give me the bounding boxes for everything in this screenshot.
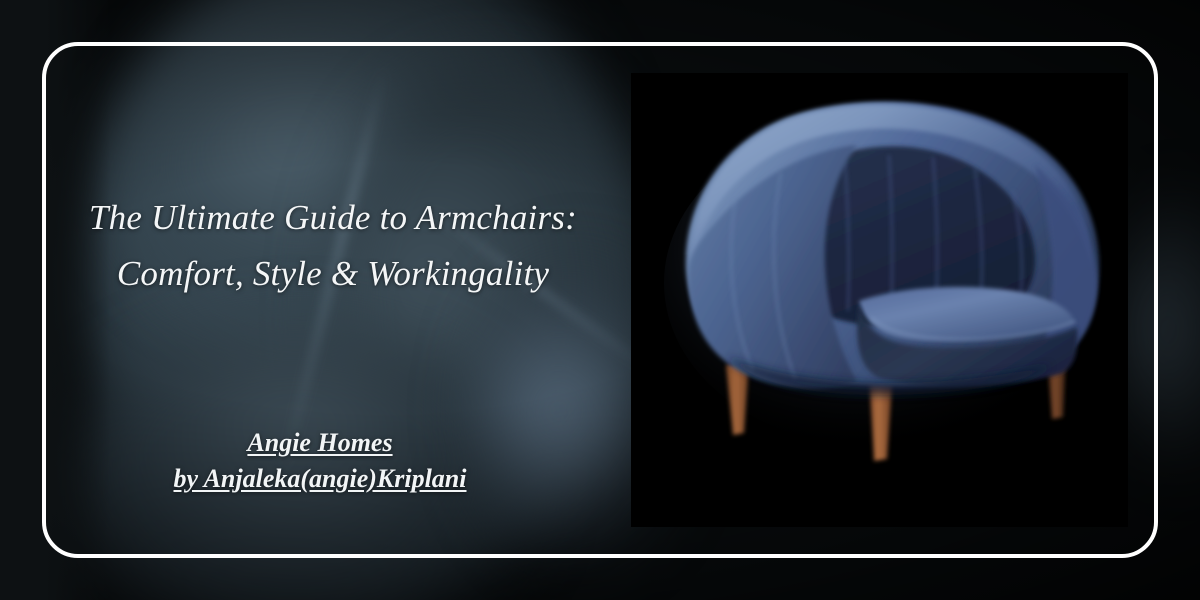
armchair-illustration xyxy=(631,73,1128,527)
byline: Angie Homes by Anjaleka(angie)Kriplani xyxy=(40,425,600,497)
product-image-panel xyxy=(631,73,1128,527)
presentation-slide: The Ultimate Guide to Armchairs: Comfort… xyxy=(0,0,1200,600)
byline-author: by Anjaleka(angie)Kriplani xyxy=(174,461,467,497)
page-title: The Ultimate Guide to Armchairs: Comfort… xyxy=(60,190,606,302)
title-line-2: Comfort, Style & Workingality xyxy=(60,246,606,302)
title-line-1: The Ultimate Guide to Armchairs: xyxy=(60,190,606,246)
byline-brand: Angie Homes xyxy=(247,425,392,461)
